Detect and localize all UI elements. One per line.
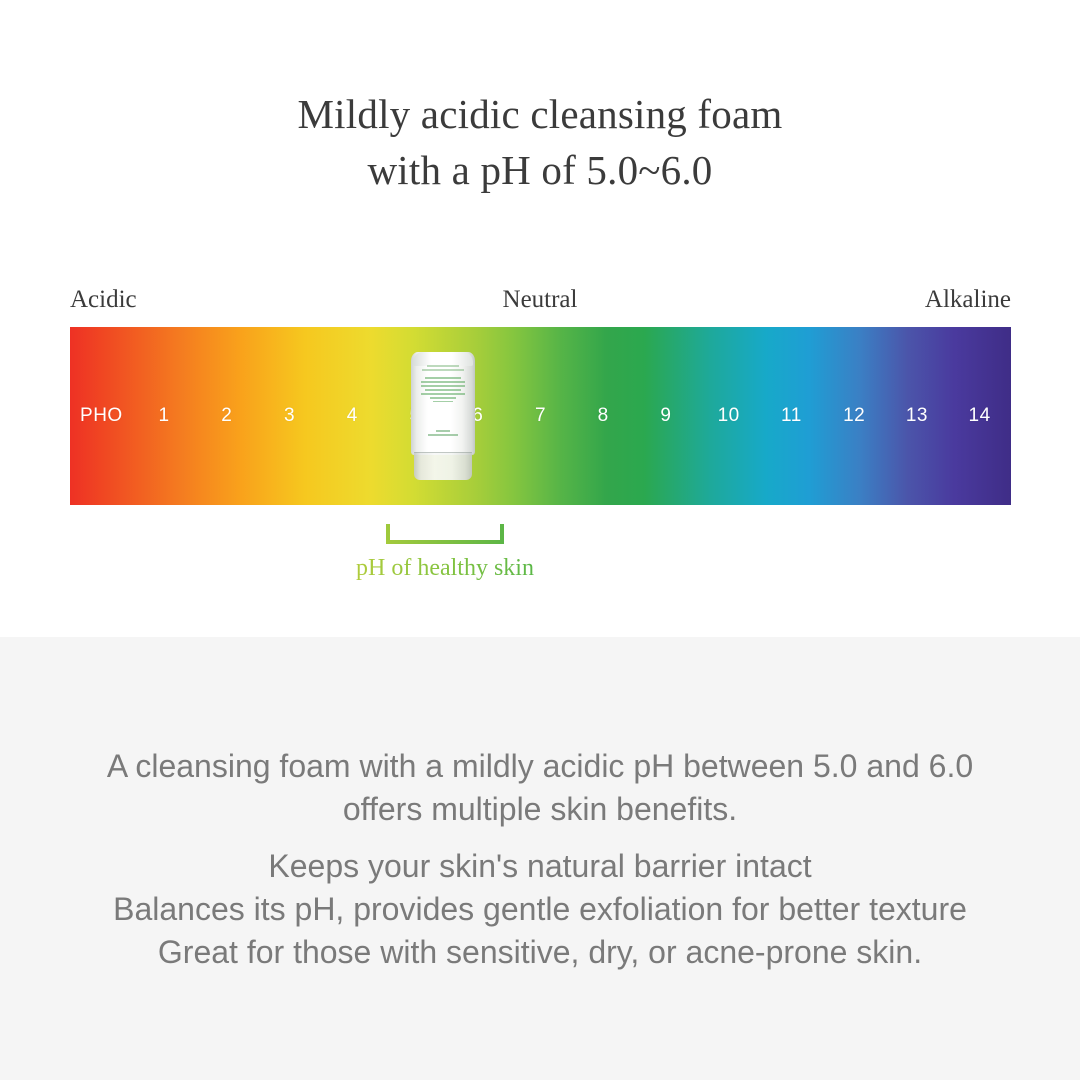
product-tube [411, 352, 475, 480]
ph-scale-endpoint-labels: Acidic Neutral Alkaline [70, 286, 1011, 316]
ph-gradient-bar: PHO1234567891011121314 [70, 327, 1011, 505]
intro-line-2: offers multiple skin benefits. [0, 788, 1080, 831]
ph-tick-3: 3 [284, 405, 295, 427]
healthy-skin-bracket [386, 524, 504, 544]
healthy-skin-caption: pH of healthy skin [345, 552, 545, 584]
ph-tick-1: 1 [159, 405, 170, 427]
tube-cap [414, 452, 472, 480]
benefit-line-3: Great for those with sensitive, dry, or … [0, 931, 1080, 974]
page-title: Mildly acidic cleansing foam with a pH o… [0, 86, 1080, 198]
bracket-right-edge [500, 524, 504, 544]
description-section: A cleansing foam with a mildly acidic pH… [0, 637, 1080, 1080]
hero-section: Mildly acidic cleansing foam with a pH o… [0, 0, 1080, 637]
tube-brand-text [420, 365, 466, 373]
benefits-paragraph: Keeps your skin's natural barrier intact… [0, 845, 1080, 974]
benefit-line-2: Balances its pH, provides gentle exfolia… [0, 888, 1080, 931]
bracket-base [386, 540, 504, 544]
page-title-line-1: Mildly acidic cleansing foam [0, 86, 1080, 142]
label-alkaline: Alkaline [925, 286, 1011, 314]
ph-tick-9: 9 [660, 405, 671, 427]
ph-tick-pho: PHO [80, 405, 123, 427]
intro-paragraph: A cleansing foam with a mildly acidic pH… [0, 745, 1080, 831]
ph-infographic-page: Mildly acidic cleansing foam with a pH o… [0, 0, 1080, 1080]
intro-line-1: A cleansing foam with a mildly acidic pH… [0, 745, 1080, 788]
ph-tick-4: 4 [347, 405, 358, 427]
tube-logo [428, 430, 458, 438]
tube-label-text [421, 377, 465, 404]
ph-tick-11: 11 [781, 405, 802, 427]
label-neutral: Neutral [503, 286, 578, 314]
ph-tick-12: 12 [843, 405, 865, 427]
ph-tick-8: 8 [598, 405, 609, 427]
ph-tick-13: 13 [906, 405, 928, 427]
ph-tick-container: PHO1234567891011121314 [70, 327, 1011, 505]
ph-tick-7: 7 [535, 405, 546, 427]
label-acidic: Acidic [70, 286, 137, 314]
tube-body [411, 352, 475, 455]
tube-cap-seam [414, 452, 472, 453]
ph-tick-10: 10 [718, 405, 740, 427]
ph-tick-14: 14 [969, 405, 991, 427]
ph-tick-2: 2 [221, 405, 232, 427]
tube-shoulder [413, 352, 473, 366]
benefit-line-1: Keeps your skin's natural barrier intact [0, 845, 1080, 888]
page-title-line-2: with a pH of 5.0~6.0 [0, 142, 1080, 198]
